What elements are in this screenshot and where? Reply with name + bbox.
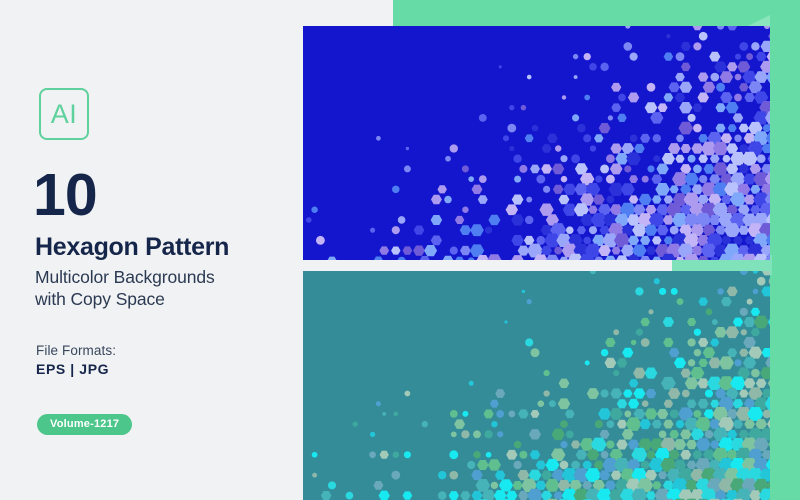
- green-right-band-decoration: [770, 0, 800, 500]
- file-formats-label: File Formats:: [36, 343, 116, 358]
- poster-canvas: AI 10 Hexagon Pattern Multicolor Backgro…: [0, 0, 800, 500]
- info-column: AI 10 Hexagon Pattern Multicolor Backgro…: [0, 0, 300, 500]
- file-formats-value: EPS | JPG: [36, 361, 109, 377]
- ai-format-logo: AI: [39, 88, 89, 140]
- teal-hexagon-preview[interactable]: [303, 271, 770, 500]
- page-subtitle-line-2: with Copy Space: [35, 288, 285, 310]
- teal-hexagon-pattern: [303, 271, 770, 500]
- ai-logo-label: AI: [51, 101, 78, 128]
- page-subtitle: Multicolor Backgrounds with Copy Space: [35, 266, 285, 310]
- blue-hexagon-preview[interactable]: [303, 26, 770, 260]
- item-count: 10: [33, 166, 97, 225]
- blue-hexagon-pattern: [303, 26, 770, 260]
- volume-badge: Volume-1217: [37, 414, 132, 435]
- page-title: Hexagon Pattern: [35, 234, 229, 262]
- page-subtitle-line-1: Multicolor Backgrounds: [35, 266, 285, 288]
